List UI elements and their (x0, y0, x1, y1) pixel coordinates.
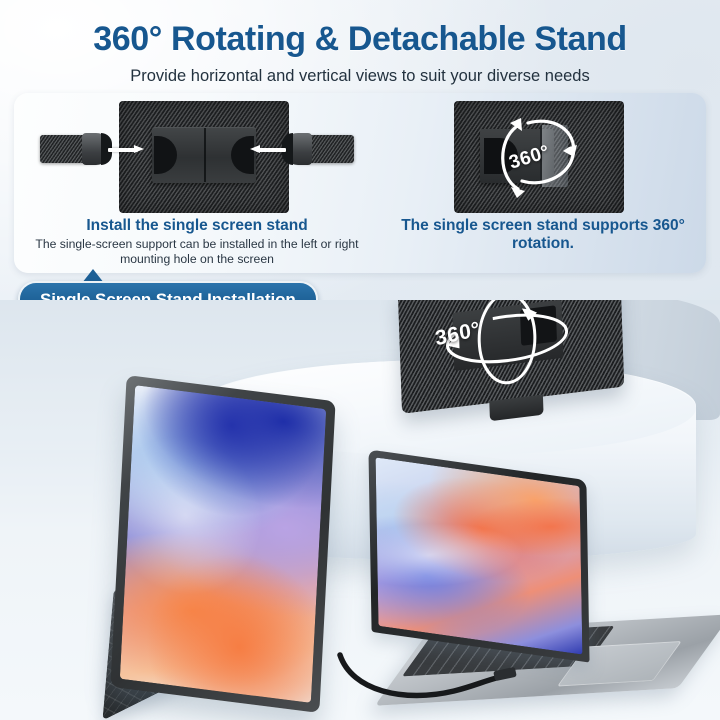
screen-back-plate (152, 127, 256, 183)
page-subtitle: Provide horizontal and vertical views to… (0, 67, 720, 86)
usb-c-cable (334, 651, 574, 711)
panel-right: 360° The single screen stand supports 36… (380, 93, 706, 273)
portrait-monitor-frame (110, 375, 335, 713)
panel-left: Install the single screen stand The sing… (14, 93, 380, 273)
laptop-screen (376, 457, 583, 654)
arrow-right-icon (100, 145, 144, 153)
stand-piece-right (296, 135, 354, 163)
wallpaper-swirl (120, 385, 326, 703)
left-caption: Install the single screen stand (14, 217, 380, 235)
stand-piece-left (40, 135, 98, 163)
mount-slot-left (154, 136, 177, 174)
laptop-lid (368, 449, 589, 662)
mount-slot-right (231, 136, 254, 174)
wallpaper-swirl (376, 481, 583, 616)
page-title: 360° Rotating & Detachable Stand (0, 0, 720, 58)
laptop (356, 465, 696, 695)
stand-insert-diagram (119, 101, 289, 213)
header: 360° Rotating & Detachable Stand Provide… (0, 0, 720, 86)
diagram-panel: Install the single screen stand The sing… (14, 93, 706, 273)
portrait-monitor (110, 375, 335, 713)
arrow-left-icon (250, 145, 294, 153)
right-caption: The single screen stand supports 360° ro… (380, 217, 706, 254)
product-scene: 360° (0, 300, 720, 720)
left-subcaption: The single-screen support can be install… (26, 237, 368, 266)
product-feature-image: 360° Rotating & Detachable Stand Provide… (0, 0, 720, 720)
portrait-monitor-screen (120, 385, 326, 703)
stand-rotation-diagram: 360° (454, 101, 624, 213)
